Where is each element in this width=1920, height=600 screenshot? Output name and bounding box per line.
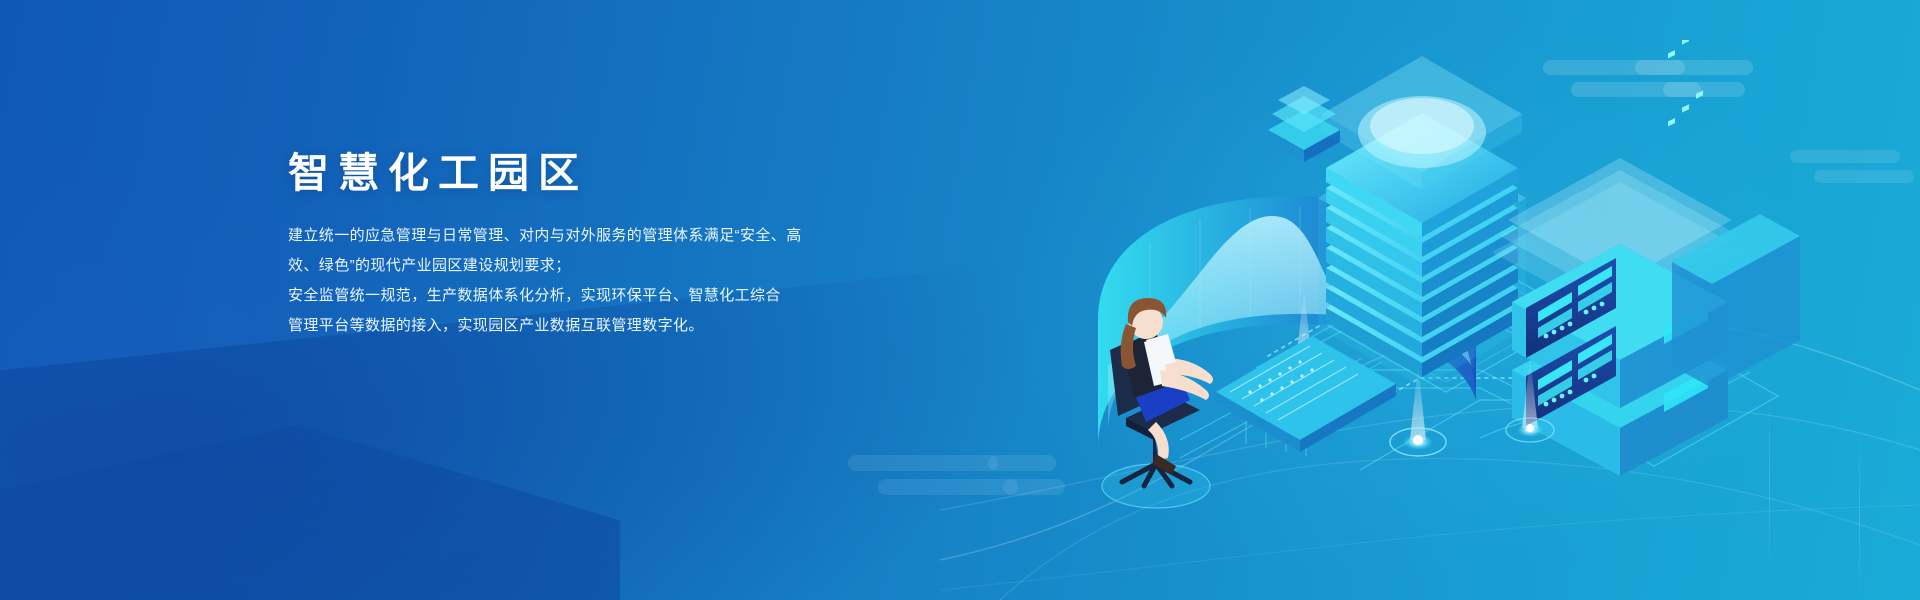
- description-line-1: 建立统一的应急管理与日常管理、对内与对外服务的管理体系满足“安全、高: [288, 221, 908, 251]
- description-line-3: 安全监管统一规范，生产数据体系化分析，实现环保平台、智慧化工综合: [288, 281, 908, 311]
- hero-copy: 智慧化工园区 建立统一的应急管理与日常管理、对内与对外服务的管理体系满足“安全、…: [288, 148, 908, 341]
- page-title: 智慧化工园区: [288, 148, 908, 199]
- vertical-accent-line-2: [1859, 430, 1860, 600]
- illustration-svg: [1060, 40, 1800, 560]
- cloud-decoration-far-right: [1790, 150, 1920, 196]
- floating-cube: [1268, 86, 1340, 162]
- cloud-decoration-mid: [848, 455, 1078, 515]
- data-tower: [1318, 56, 1526, 388]
- description-line-4: 管理平台等数据的接入，实现园区产业数据互联管理数字化。: [288, 311, 908, 341]
- description-line-2: 效、绿色”的现代产业园区建设规划要求；: [288, 251, 908, 281]
- hero-description: 建立统一的应急管理与日常管理、对内与对外服务的管理体系满足“安全、高 效、绿色”…: [288, 221, 908, 341]
- bottom-left-wave-edge: [0, 410, 620, 600]
- isometric-illustration: [1060, 40, 1800, 560]
- hero-banner: 智慧化工园区 建立统一的应急管理与日常管理、对内与对外服务的管理体系满足“安全、…: [0, 0, 1920, 600]
